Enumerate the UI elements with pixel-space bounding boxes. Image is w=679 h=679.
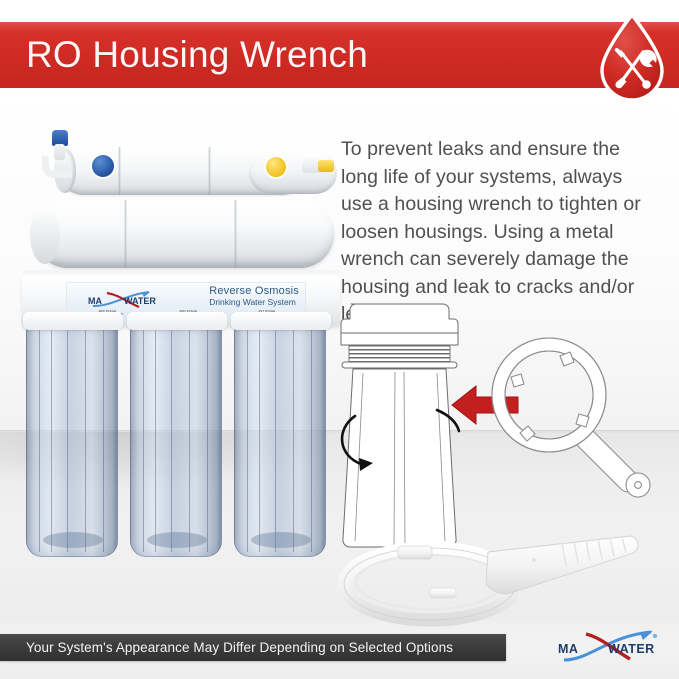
- yellow-fitting: [318, 160, 334, 172]
- footer-notice-bar: Your System's Appearance May Differ Depe…: [0, 634, 506, 661]
- label-brand-suffix: WATER: [124, 296, 156, 306]
- housing-cap: [127, 312, 227, 330]
- housing-seam: [118, 147, 121, 195]
- housing-wrench-photo: [338, 522, 656, 627]
- membrane-housing-right: [249, 152, 337, 194]
- header: RO Housing Wrench: [0, 0, 679, 110]
- label-product-title: Reverse Osmosis Drinking Water System: [209, 286, 299, 308]
- maxwater-logo: MA WATER: [556, 628, 666, 668]
- yellow-sticker: [266, 157, 286, 177]
- filter-housing-bowl: [130, 325, 222, 557]
- blue-sticker: [92, 155, 114, 177]
- membrane-housing-lower: [34, 200, 334, 268]
- housing-cap: [231, 312, 331, 330]
- label-maxwater-logo: MA WATER: [87, 291, 187, 309]
- housing-base: [43, 532, 103, 548]
- ro-system-photo: MA WATER Reverse Osmosis Drinking Water …: [14, 130, 344, 575]
- filter-housing-bowl: [234, 325, 326, 557]
- housing-wrench-line-art: [486, 332, 668, 514]
- filter-housings: [20, 325, 340, 570]
- housing-base: [147, 532, 207, 548]
- label-title-line1: Reverse Osmosis: [209, 286, 299, 297]
- housing-seam: [234, 200, 237, 268]
- filter-housing-bowl: [26, 325, 118, 557]
- housing-seam: [124, 200, 127, 268]
- housing-base: [251, 532, 311, 548]
- label-brand-prefix: MA: [88, 296, 102, 306]
- water-drop-tools-icon: [594, 12, 670, 106]
- tubing-elbow: [42, 156, 72, 178]
- footer-notice-text: Your System's Appearance May Differ Depe…: [26, 634, 453, 661]
- housing-cap: [23, 312, 123, 330]
- label-title-line2: Drinking Water System: [209, 297, 299, 308]
- logo-brand-prefix: MA: [558, 642, 578, 656]
- logo-brand-suffix: WATER: [608, 642, 655, 656]
- page-title: RO Housing Wrench: [26, 27, 368, 83]
- housing-seam: [208, 147, 211, 195]
- poster-canvas: RO Housing Wrench: [0, 0, 679, 679]
- membrane-lower-end-cap: [30, 206, 60, 264]
